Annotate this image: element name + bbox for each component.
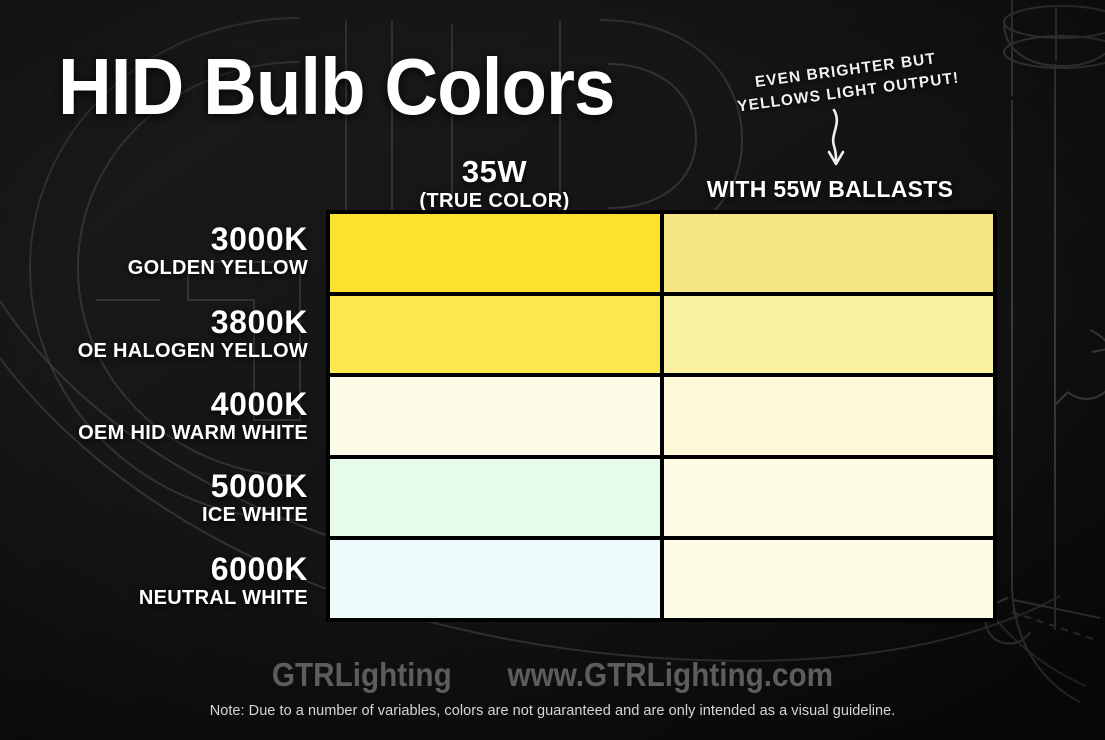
swatch-4000k-55w: [664, 377, 994, 455]
row-label-4000k: 4000K OEM HID WARM WHITE: [0, 375, 316, 457]
row-label-3800k: 3800K OE HALOGEN YELLOW: [0, 292, 316, 374]
row-name: NEUTRAL WHITE: [139, 586, 308, 610]
row-temp: 3000K: [211, 222, 308, 256]
row-name: ICE WHITE: [202, 503, 308, 527]
swatch-5000k-35w: [330, 459, 664, 537]
row-label-6000k: 6000K NEUTRAL WHITE: [0, 540, 316, 622]
row-temp: 6000K: [211, 552, 308, 586]
table-row: [330, 377, 993, 459]
table-row: [330, 296, 993, 378]
footer-brand-row: GTRLighting www.GTRLighting.com: [55, 657, 1050, 693]
row-label-3000k: 3000K GOLDEN YELLOW: [0, 210, 316, 292]
row-temp: 5000K: [211, 469, 308, 503]
row-name: OEM HID WARM WHITE: [78, 421, 308, 445]
page-title: HID Bulb Colors: [58, 47, 614, 127]
row-temp: 4000K: [211, 387, 308, 421]
brand-name: GTRLighting: [272, 657, 452, 693]
swatch-3000k-55w: [664, 214, 994, 292]
swatch-4000k-35w: [330, 377, 664, 455]
column-header-55w: WITH 55W BALLASTS: [663, 176, 997, 203]
table-row: [330, 459, 993, 541]
row-name: GOLDEN YELLOW: [128, 256, 308, 280]
swatch-3800k-35w: [330, 296, 664, 374]
table-row: [330, 540, 993, 618]
row-label-column: 3000K GOLDEN YELLOW 3800K OE HALOGEN YEL…: [0, 210, 316, 622]
swatch-3800k-55w: [664, 296, 994, 374]
row-name: OE HALOGEN YELLOW: [78, 339, 308, 363]
swatch-3000k-35w: [330, 214, 664, 292]
swatch-6000k-35w: [330, 540, 664, 618]
color-swatch-table: [326, 210, 997, 622]
curved-arrow-down-icon: [790, 108, 870, 168]
row-label-5000k: 5000K ICE WHITE: [0, 457, 316, 539]
disclaimer-note: Note: Due to a number of variables, colo…: [0, 703, 1105, 719]
swatch-6000k-55w: [664, 540, 994, 618]
column-header-35w-title: 35W: [326, 155, 663, 189]
swatch-5000k-55w: [664, 459, 994, 537]
table-row: [330, 214, 993, 296]
row-temp: 3800K: [211, 305, 308, 339]
brand-website: www.GTRLighting.com: [508, 657, 834, 693]
column-header-35w: 35W (TRUE COLOR): [326, 155, 663, 213]
